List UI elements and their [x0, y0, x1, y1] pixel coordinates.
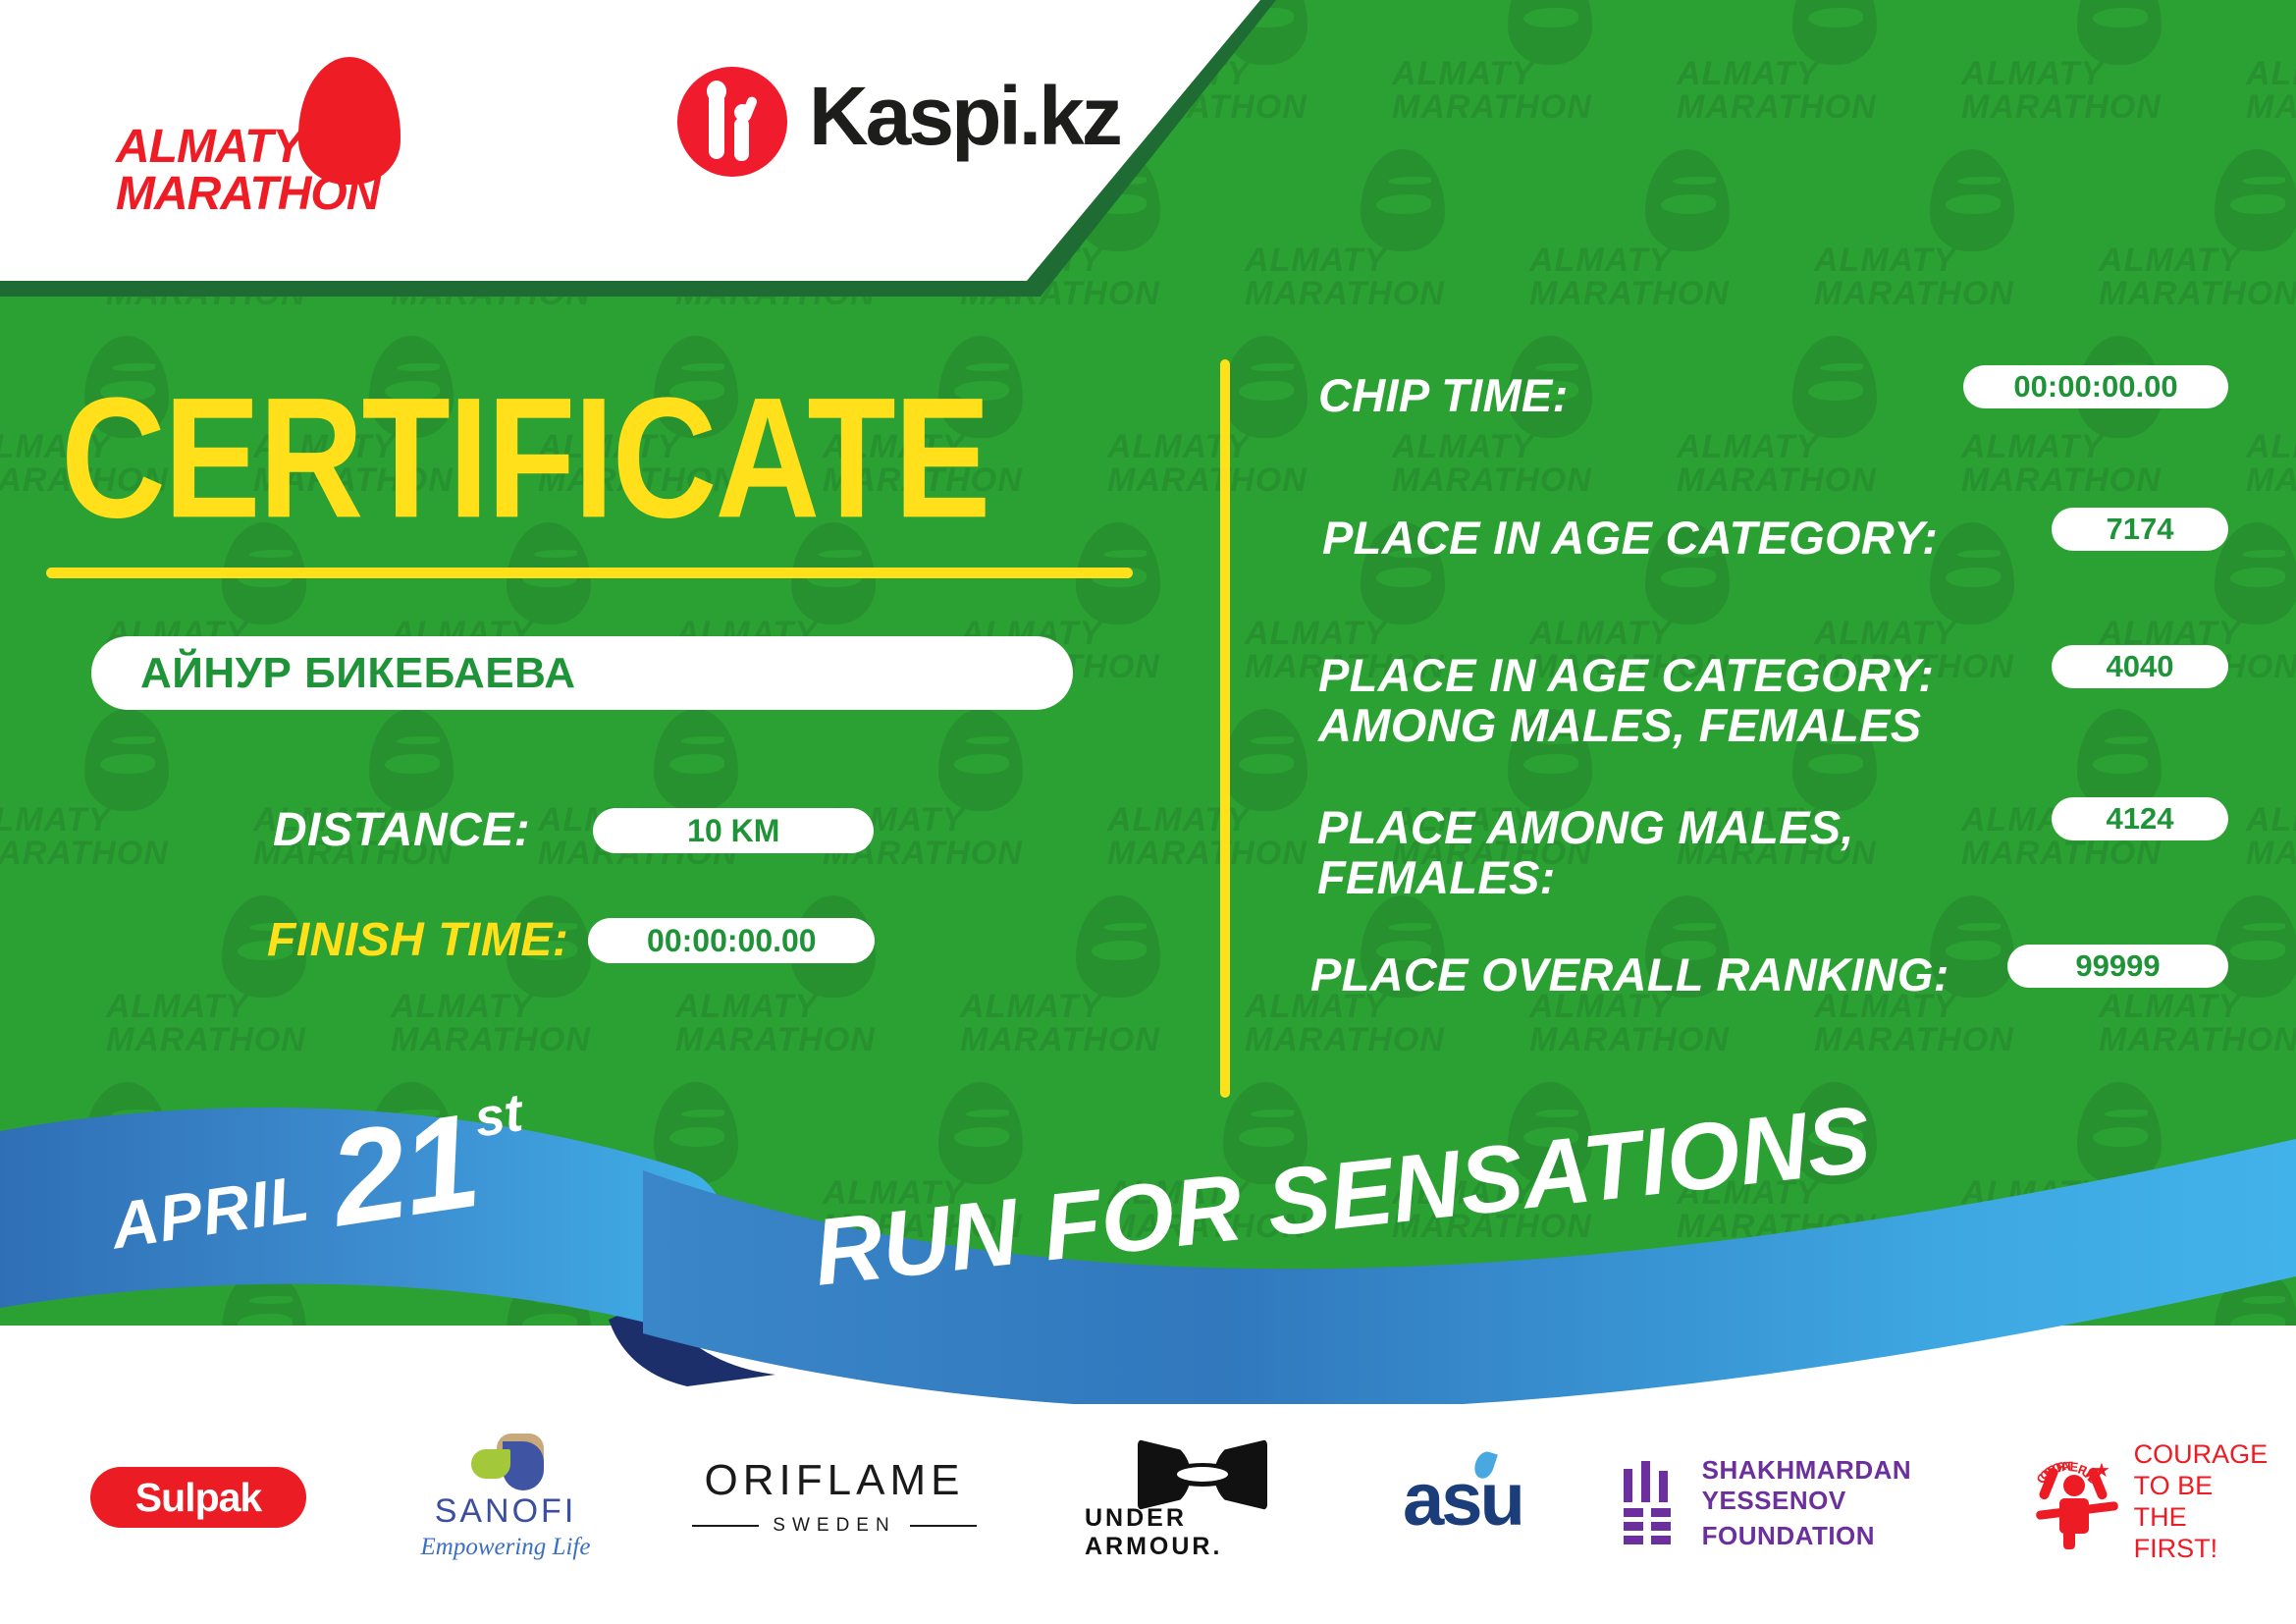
- distance-row: DISTANCE: 10 KM: [273, 803, 874, 857]
- courage-line2: TO BE: [2134, 1471, 2277, 1502]
- place-among-gender-value: 4124: [2052, 797, 2228, 840]
- place-overall-value: 99999: [2007, 945, 2228, 988]
- oriflame-logo-text: ORIFLAME: [705, 1456, 965, 1505]
- chip-time-label: CHIP TIME:: [1318, 371, 1569, 421]
- courage-fund-logo: CORPORATE FUND ★ COURAGE TO BE THE FIRST…: [2032, 1443, 2277, 1561]
- asu-logo-text: asu: [1403, 1457, 1522, 1543]
- place-among-gender-label: PLACE AMONG MALES, FEMALES:: [1317, 803, 1854, 903]
- divider-left: [692, 1525, 759, 1527]
- distance-label: DISTANCE:: [273, 803, 530, 857]
- courage-fund-text-block: COURAGE TO BE THE FIRST!: [2134, 1439, 2277, 1564]
- kaspi-logo-text: Kaspi.kz: [809, 69, 1120, 164]
- distance-value: 10 KM: [593, 808, 874, 853]
- yessenov-mark-icon: [1620, 1461, 1682, 1545]
- courage-runner-icon: CORPORATE FUND ★: [2032, 1455, 2122, 1549]
- asu-logo: asu: [1364, 1455, 1561, 1543]
- sponsor-bar: Sulpak SANOFI Empowering Life ORIFLAME S…: [0, 1406, 2296, 1624]
- place-age-category-value: 7174: [2052, 508, 2228, 551]
- ribbon-day-suffix: st: [471, 1082, 527, 1149]
- kaspi-logo: Kaspi.kz: [677, 67, 1090, 175]
- place-overall-label: PLACE OVERALL RANKING:: [1310, 950, 1949, 1001]
- divider-right: [910, 1525, 977, 1527]
- yessenov-text-block: SHAKHMARDAN YESSENOV FOUNDATION: [1702, 1455, 2012, 1551]
- sulpak-logo-text: Sulpak: [135, 1475, 261, 1521]
- under-armour-mark-icon: [1138, 1439, 1267, 1496]
- oriflame-subtitle-row: SWEDEN: [692, 1515, 977, 1537]
- sanofi-mark-icon: [467, 1434, 544, 1489]
- certificate-page: ALMATYMARATHONALMATYMARATHONALMATYMARATH…: [0, 0, 2296, 1624]
- place-age-category-label: PLACE IN AGE CATEGORY:: [1322, 514, 1938, 564]
- page-title: CERTIFICATE: [61, 373, 1131, 545]
- participant-name-field: АЙНУР БИКЕБАЕВА: [91, 636, 1073, 710]
- oriflame-subtitle: SWEDEN: [773, 1515, 895, 1537]
- finish-time-value: 00:00:00.00: [588, 918, 875, 963]
- oriflame-logo: ORIFLAME SWEDEN: [692, 1449, 977, 1543]
- sanofi-tagline: Empowering Life: [421, 1534, 591, 1561]
- place-age-category-gender-label: PLACE IN AGE CATEGORY: AMONG MALES, FEMA…: [1318, 651, 1934, 751]
- label-line2: AMONG MALES, FEMALES: [1318, 699, 1921, 751]
- finish-time-label: FINISH TIME:: [267, 913, 568, 967]
- courage-line1: COURAGE: [2134, 1439, 2277, 1471]
- kaspi-family-icon: [677, 67, 787, 177]
- almaty-logo-line1: ALMATY: [116, 120, 302, 174]
- label-line1: PLACE AMONG MALES,: [1317, 801, 1854, 853]
- yessenov-line2: FOUNDATION: [1702, 1521, 2012, 1551]
- under-armour-logo: UNDER ARMOUR.: [1085, 1439, 1320, 1561]
- runner-icon: [495, 92, 569, 185]
- ribbon-day: 21: [324, 1103, 484, 1237]
- yessenov-line1: SHAKHMARDAN YESSENOV: [1702, 1455, 2012, 1516]
- participant-name-value: АЙНУР БИКЕБАЕВА: [140, 636, 576, 710]
- courage-line3: THE FIRST!: [2134, 1502, 2277, 1565]
- sulpak-logo: Sulpak: [90, 1467, 306, 1528]
- almaty-marathon-logo: ALMATY MARATHON: [116, 47, 430, 204]
- sanofi-logo: SANOFI Empowering Life: [393, 1434, 618, 1561]
- sanofi-logo-text: SANOFI: [435, 1492, 577, 1531]
- place-age-category-gender-value: 4040: [2052, 645, 2228, 688]
- chip-time-value: 00:00:00.00: [1963, 365, 2228, 408]
- almaty-logo-line2: MARATHON: [116, 167, 379, 221]
- yessenov-foundation-logo: SHAKHMARDAN YESSENOV FOUNDATION: [1620, 1449, 2012, 1557]
- under-armour-logo-text: UNDER ARMOUR.: [1085, 1504, 1320, 1561]
- column-divider: [1220, 359, 1230, 1098]
- label-line2: FEMALES:: [1317, 851, 1556, 903]
- title-underline: [46, 568, 1133, 578]
- finish-time-row: FINISH TIME: 00:00:00.00: [267, 913, 875, 967]
- asu-text: asu: [1403, 1458, 1522, 1542]
- label-line1: PLACE IN AGE CATEGORY:: [1318, 649, 1934, 701]
- event-ribbon: APRIL 21 st RUN FOR SENSATIONS: [0, 1080, 2296, 1404]
- runner-drop-icon: [298, 57, 400, 185]
